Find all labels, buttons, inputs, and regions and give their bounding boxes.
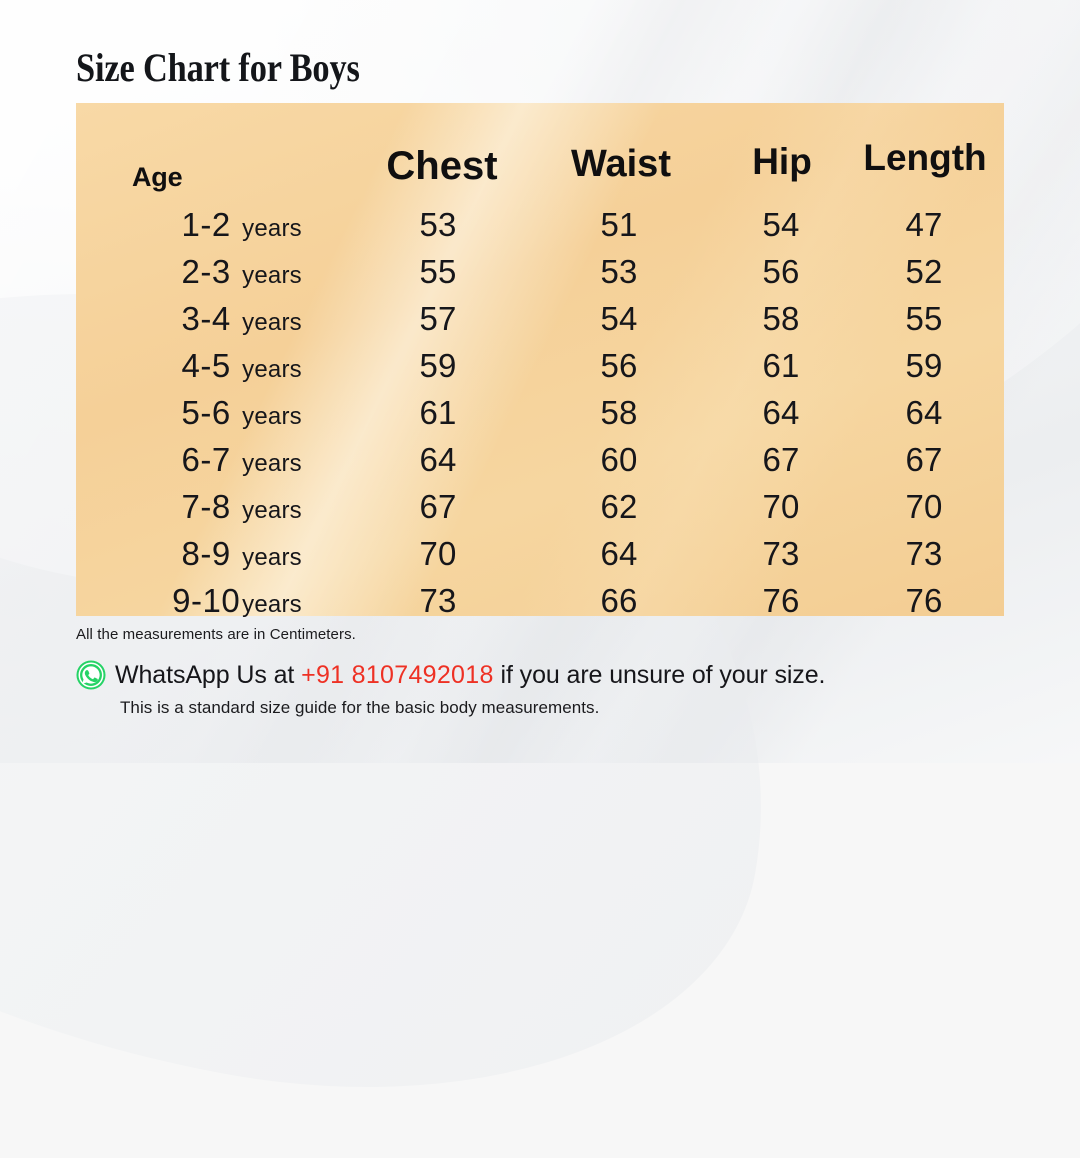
age-range: 7-8	[170, 488, 242, 526]
cell-chest: 70	[344, 530, 534, 577]
cell-length: 55	[852, 295, 1004, 342]
cell-chest: 57	[344, 295, 534, 342]
column-header-hip: Hip	[712, 103, 852, 201]
cell-age: 4-5years	[76, 342, 344, 389]
table-row: 8-9years 70 64 73 73	[76, 530, 1004, 577]
size-table-body: 1-2years 53 51 54 47 2-3years 55 53 56 5…	[76, 201, 1004, 624]
age-range: 3-4	[170, 300, 242, 338]
cell-hip: 67	[712, 436, 852, 483]
cell-waist: 58	[534, 389, 712, 436]
age-range: 6-7	[170, 441, 242, 479]
table-row: 9-10years 73 66 76 76	[76, 577, 1004, 624]
age-unit: years	[242, 497, 302, 524]
cell-age: 9-10years	[76, 577, 344, 624]
age-range: 8-9	[170, 535, 242, 573]
cell-age: 2-3years	[76, 248, 344, 295]
age-range: 1-2	[170, 206, 242, 244]
cell-chest: 73	[344, 577, 534, 624]
cell-length: 73	[852, 530, 1004, 577]
size-table: Age Chest Waist Hip Length 1-2years 53 5…	[76, 103, 1004, 624]
standard-guide-note: This is a standard size guide for the ba…	[120, 698, 599, 718]
column-header-waist: Waist	[534, 103, 712, 201]
page-title: Size Chart for Boys	[76, 44, 360, 91]
age-range: 5-6	[170, 394, 242, 432]
age-range: 4-5	[170, 347, 242, 385]
units-note: All the measurements are in Centimeters.	[76, 626, 356, 643]
whatsapp-icon	[76, 660, 106, 690]
age-unit: years	[242, 403, 302, 430]
cell-chest: 53	[344, 201, 534, 248]
whatsapp-contact-line[interactable]: WhatsApp Us at +91 8107492018 if you are…	[76, 660, 825, 690]
table-row: 7-8years 67 62 70 70	[76, 483, 1004, 530]
whatsapp-prefix: WhatsApp Us at	[115, 661, 301, 689]
cell-age: 7-8years	[76, 483, 344, 530]
size-chart-page: Size Chart for Boys Age Chest Waist Hip …	[0, 0, 1080, 763]
cell-length: 59	[852, 342, 1004, 389]
age-unit: years	[242, 356, 302, 383]
table-row: 2-3years 55 53 56 52	[76, 248, 1004, 295]
cell-hip: 54	[712, 201, 852, 248]
age-unit: years	[242, 215, 302, 242]
table-row: 4-5years 59 56 61 59	[76, 342, 1004, 389]
cell-length: 70	[852, 483, 1004, 530]
cell-length: 76	[852, 577, 1004, 624]
cell-waist: 51	[534, 201, 712, 248]
cell-hip: 58	[712, 295, 852, 342]
cell-chest: 55	[344, 248, 534, 295]
cell-age: 5-6years	[76, 389, 344, 436]
age-range: 9-10	[170, 582, 242, 620]
table-row: 5-6years 61 58 64 64	[76, 389, 1004, 436]
cell-age: 3-4years	[76, 295, 344, 342]
column-header-chest: Chest	[344, 103, 534, 201]
cell-length: 47	[852, 201, 1004, 248]
cell-length: 64	[852, 389, 1004, 436]
cell-waist: 54	[534, 295, 712, 342]
size-table-panel: Age Chest Waist Hip Length 1-2years 53 5…	[76, 103, 1004, 616]
cell-hip: 61	[712, 342, 852, 389]
cell-length: 67	[852, 436, 1004, 483]
cell-chest: 67	[344, 483, 534, 530]
cell-waist: 60	[534, 436, 712, 483]
cell-length: 52	[852, 248, 1004, 295]
age-unit: years	[242, 262, 302, 289]
cell-hip: 70	[712, 483, 852, 530]
cell-age: 8-9years	[76, 530, 344, 577]
cell-waist: 53	[534, 248, 712, 295]
age-range: 2-3	[170, 253, 242, 291]
cell-hip: 73	[712, 530, 852, 577]
age-unit: years	[242, 591, 302, 618]
age-unit: years	[242, 544, 302, 571]
age-unit: years	[242, 450, 302, 477]
cell-waist: 66	[534, 577, 712, 624]
age-unit: years	[242, 309, 302, 336]
table-row: 6-7years 64 60 67 67	[76, 436, 1004, 483]
cell-waist: 56	[534, 342, 712, 389]
cell-hip: 64	[712, 389, 852, 436]
cell-age: 1-2years	[76, 201, 344, 248]
cell-waist: 62	[534, 483, 712, 530]
cell-chest: 64	[344, 436, 534, 483]
cell-waist: 64	[534, 530, 712, 577]
table-header-row: Age Chest Waist Hip Length	[76, 103, 1004, 201]
whatsapp-text: WhatsApp Us at +91 8107492018 if you are…	[115, 661, 825, 690]
whatsapp-phone-number[interactable]: +91 8107492018	[301, 661, 494, 689]
cell-hip: 76	[712, 577, 852, 624]
cell-hip: 56	[712, 248, 852, 295]
cell-chest: 59	[344, 342, 534, 389]
cell-chest: 61	[344, 389, 534, 436]
whatsapp-suffix: if you are unsure of your size.	[494, 661, 826, 689]
cell-age: 6-7years	[76, 436, 344, 483]
table-row: 3-4years 57 54 58 55	[76, 295, 1004, 342]
table-row: 1-2years 53 51 54 47	[76, 201, 1004, 248]
column-header-length: Length	[852, 103, 1004, 201]
column-header-age: Age	[76, 103, 344, 201]
